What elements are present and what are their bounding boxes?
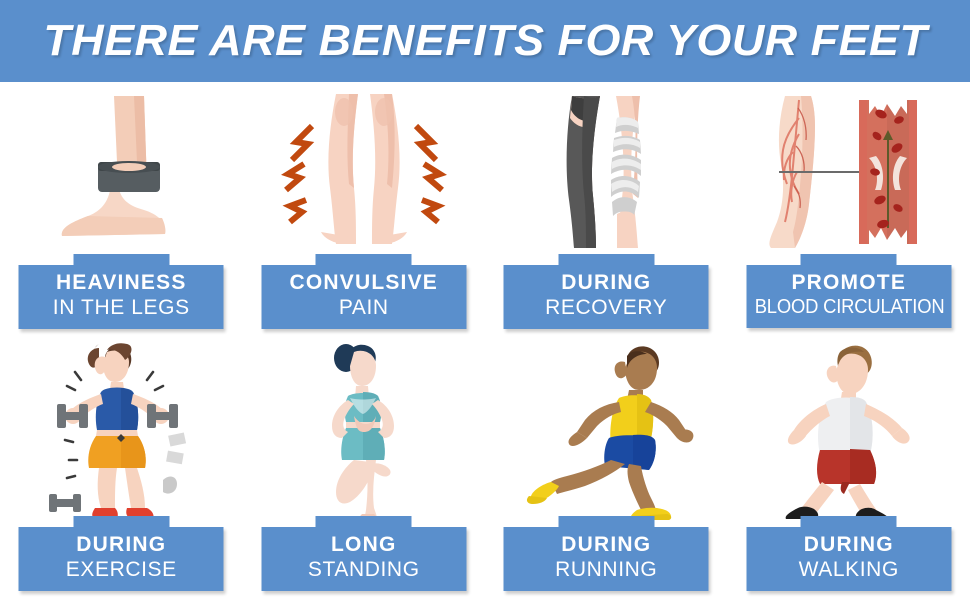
plaque-tab — [558, 516, 654, 527]
benefit-label-recovery: DURING RECOVERY — [504, 254, 709, 329]
man-running-icon — [485, 340, 728, 520]
header-banner: THERE ARE BENEFITS FOR YOUR FEET — [0, 0, 970, 82]
plaque-tab — [73, 254, 169, 265]
plaque-tab — [316, 254, 412, 265]
compression-sleeve-and-bandage-legs-icon — [485, 86, 728, 258]
label-line-1: DURING — [746, 533, 951, 557]
label-line-1: DURING — [504, 271, 709, 295]
plaque-tab — [801, 254, 897, 265]
benefits-row-bottom: DURING EXERCISE — [0, 340, 970, 600]
legs-with-pain-bolts-icon — [243, 86, 486, 258]
label-line-2: IN THE LEGS — [19, 295, 224, 320]
benefit-card-exercise[interactable]: DURING EXERCISE — [0, 340, 243, 600]
plaque-body: DURING RECOVERY — [504, 265, 709, 329]
benefit-label-heaviness: HEAVINESS IN THE LEGS — [19, 254, 224, 329]
benefits-infographic: THERE ARE BENEFITS FOR YOUR FEET — [0, 0, 970, 600]
benefit-label-walking: DURING WALKING — [746, 516, 951, 591]
plaque-body: DURING EXERCISE — [19, 527, 224, 591]
woman-lifting-dumbbells-icon — [0, 340, 243, 520]
benefit-card-blood-circulation[interactable]: PROMOTE BLOOD CIRCULATION — [728, 86, 970, 340]
plaque-tab — [73, 516, 169, 527]
benefit-label-long-standing: LONG STANDING — [261, 516, 466, 591]
benefit-card-convulsive-pain[interactable]: CONVULSIVE PAIN — [243, 86, 486, 340]
benefit-card-running[interactable]: DURING RUNNING — [485, 340, 728, 600]
label-line-2: PAIN — [261, 295, 466, 320]
label-line-2: RECOVERY — [504, 295, 709, 320]
label-line-2: BLOOD CIRCULATION — [754, 295, 943, 319]
label-line-2: EXERCISE — [19, 557, 224, 582]
plaque-tab — [316, 516, 412, 527]
plaque-body: DURING WALKING — [746, 527, 951, 591]
page-title: THERE ARE BENEFITS FOR YOUR FEET — [43, 16, 927, 66]
plaque-tab — [801, 516, 897, 527]
plaque-body: CONVULSIVE PAIN — [261, 265, 466, 329]
plaque-body: HEAVINESS IN THE LEGS — [19, 265, 224, 329]
plaque-tab — [558, 254, 654, 265]
label-line-1: DURING — [19, 533, 224, 557]
label-line-1: CONVULSIVE — [261, 271, 466, 295]
ankle-weight-on-foot-icon — [0, 86, 243, 258]
plaque-body: DURING RUNNING — [504, 527, 709, 591]
leg-veins-blood-vessel-icon — [728, 86, 970, 258]
label-line-1: DURING — [504, 533, 709, 557]
woman-yoga-tree-pose-icon — [243, 340, 486, 520]
label-line-2: RUNNING — [504, 557, 709, 582]
label-line-1: HEAVINESS — [19, 271, 224, 295]
plaque-body: PROMOTE BLOOD CIRCULATION — [746, 265, 951, 328]
benefit-label-running: DURING RUNNING — [504, 516, 709, 591]
benefit-card-long-standing[interactable]: LONG STANDING — [243, 340, 486, 600]
benefit-card-walking[interactable]: DURING WALKING — [728, 340, 970, 600]
benefits-row-top: HEAVINESS IN THE LEGS — [0, 86, 970, 340]
label-line-2: WALKING — [746, 557, 951, 582]
benefit-label-blood-circulation: PROMOTE BLOOD CIRCULATION — [746, 254, 951, 328]
benefit-label-exercise: DURING EXERCISE — [19, 516, 224, 591]
plaque-body: LONG STANDING — [261, 527, 466, 591]
benefit-card-heaviness[interactable]: HEAVINESS IN THE LEGS — [0, 86, 243, 340]
label-line-1: PROMOTE — [746, 271, 951, 295]
benefit-label-convulsive-pain: CONVULSIVE PAIN — [261, 254, 466, 329]
benefit-card-recovery[interactable]: DURING RECOVERY — [485, 86, 728, 340]
label-line-1: LONG — [261, 533, 466, 557]
man-walking-icon — [728, 340, 970, 520]
label-line-2: STANDING — [261, 557, 466, 582]
